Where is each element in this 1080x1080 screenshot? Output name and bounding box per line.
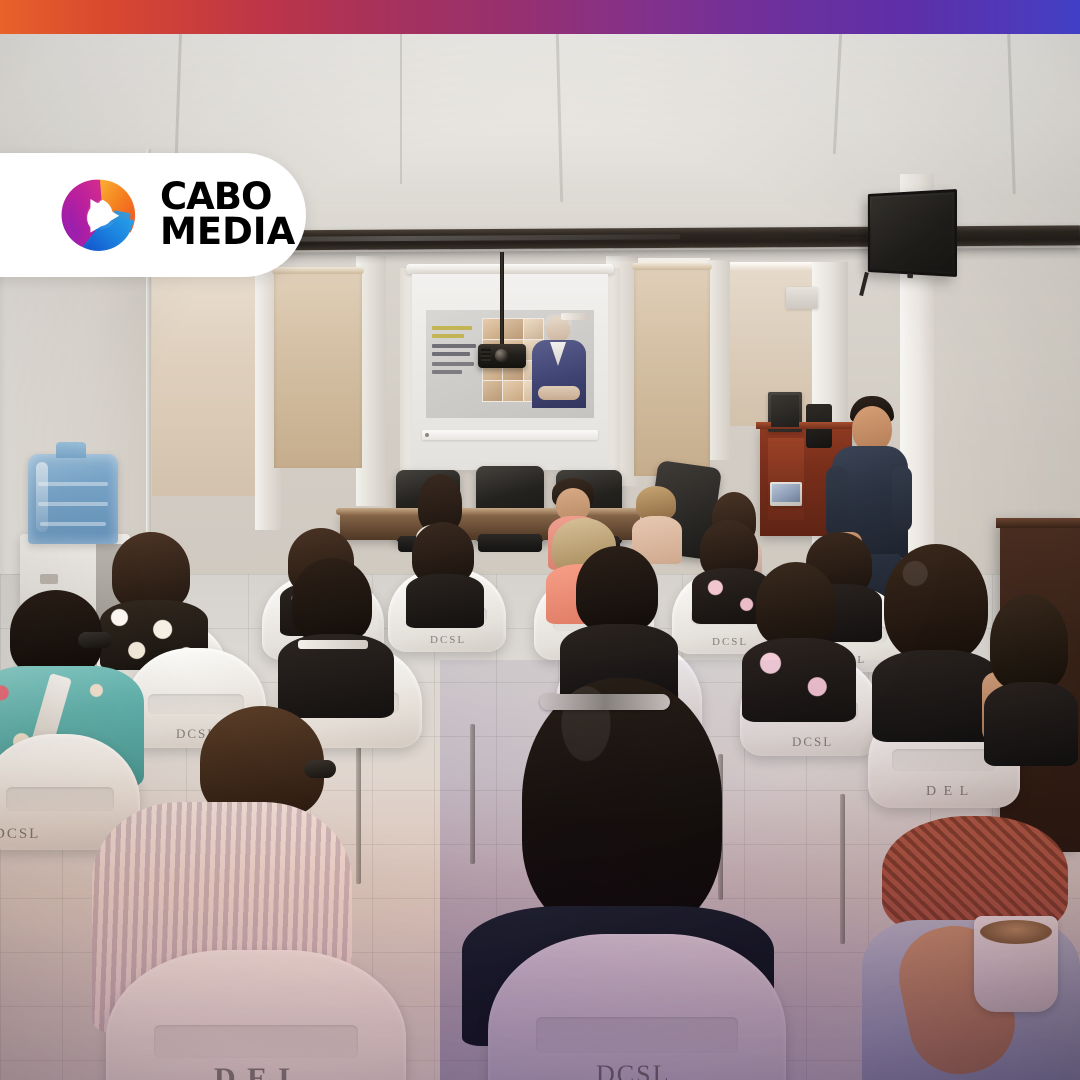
water-jug-neck [56, 442, 86, 458]
projection-screen [412, 272, 608, 472]
chair-label: DCSL [596, 1060, 670, 1080]
attendee-top [742, 638, 856, 722]
attendee-hair [756, 562, 836, 646]
projector-lens-icon [495, 349, 508, 362]
attendee-hair [292, 558, 372, 642]
screen-surface [412, 274, 608, 470]
post-canvas: DCSL DCSL DCSL DCSL DCSL [0, 0, 1080, 1080]
attendee-hair [636, 486, 676, 520]
water-jug-highlight [36, 462, 48, 532]
attendee-lanyard [298, 640, 368, 649]
attendee-top [406, 574, 484, 628]
attendee-hair [884, 544, 988, 662]
attendee-hair [522, 678, 722, 932]
chair-label: DCSL [430, 634, 466, 646]
desk-monitor-screen [771, 395, 799, 427]
attendee-glasses-icon [304, 760, 336, 778]
cabo-media-play-swirl-logo [60, 175, 140, 255]
screen-roller [406, 264, 614, 274]
attendee-hair [576, 546, 658, 632]
brand-wordmark: CABO MEDIA [160, 180, 295, 250]
window-roller-blind [274, 270, 362, 468]
executive-chair-seat [478, 534, 542, 552]
tv-screen [871, 194, 952, 272]
wall-niche-top [724, 262, 822, 270]
video-corner-logo-icon [561, 313, 589, 320]
window-roller-blind [634, 266, 710, 476]
chair-label: DCSL [0, 826, 40, 843]
screen-frame-left [400, 268, 412, 474]
chair-label: D E L [214, 1062, 301, 1080]
tv-wall-mount [840, 229, 866, 237]
chair: DCSL [488, 934, 786, 1080]
video-caption-text [432, 326, 478, 384]
chair-label: DCSL [712, 636, 748, 648]
brand-logo-badge: CABO MEDIA [0, 153, 306, 277]
brand-name-line2: MEDIA [160, 215, 295, 250]
chair-label: DCSL [792, 734, 833, 750]
cabinet-top [996, 518, 1080, 528]
sunglasses-icon [540, 694, 670, 710]
projector-mount-pole [500, 252, 504, 348]
wall-niche [152, 266, 258, 496]
attendee-top [872, 650, 1000, 742]
video-speaker-hands [538, 386, 580, 400]
video-progress-handle [425, 433, 429, 437]
blind-roller [632, 263, 712, 270]
presenter-arm [892, 466, 912, 532]
attendee-hair [112, 532, 190, 610]
water-jug-rib [38, 482, 108, 486]
tv-logo-icon [907, 273, 913, 278]
presenter-arm [826, 466, 848, 538]
chair-leg [470, 724, 475, 864]
lectern-front-panel [768, 438, 804, 520]
blind-roller [272, 267, 364, 274]
chair-leg [356, 734, 361, 884]
video-speaker-figure [530, 316, 588, 408]
water-jug-rib [38, 502, 108, 506]
brand-gradient-bar [0, 0, 1080, 34]
screen-frame-right [608, 268, 620, 474]
wall-mounted-tv [868, 189, 957, 277]
chair: D E L [106, 950, 406, 1080]
ac-vent [786, 287, 818, 309]
water-jug-rib [40, 522, 106, 526]
projector-vent [481, 347, 491, 363]
chair-leg [840, 794, 845, 944]
water-cooler-tap [40, 574, 58, 584]
conference-table-top [336, 508, 644, 515]
cup-contents [980, 920, 1052, 944]
attendee-top [984, 682, 1078, 766]
video-progress-bar [422, 430, 598, 440]
attendee-hair [990, 594, 1068, 690]
chair-label: D E L [926, 784, 970, 800]
attendee-glasses-icon [78, 632, 112, 648]
presenter-laptop-screen [772, 484, 800, 502]
